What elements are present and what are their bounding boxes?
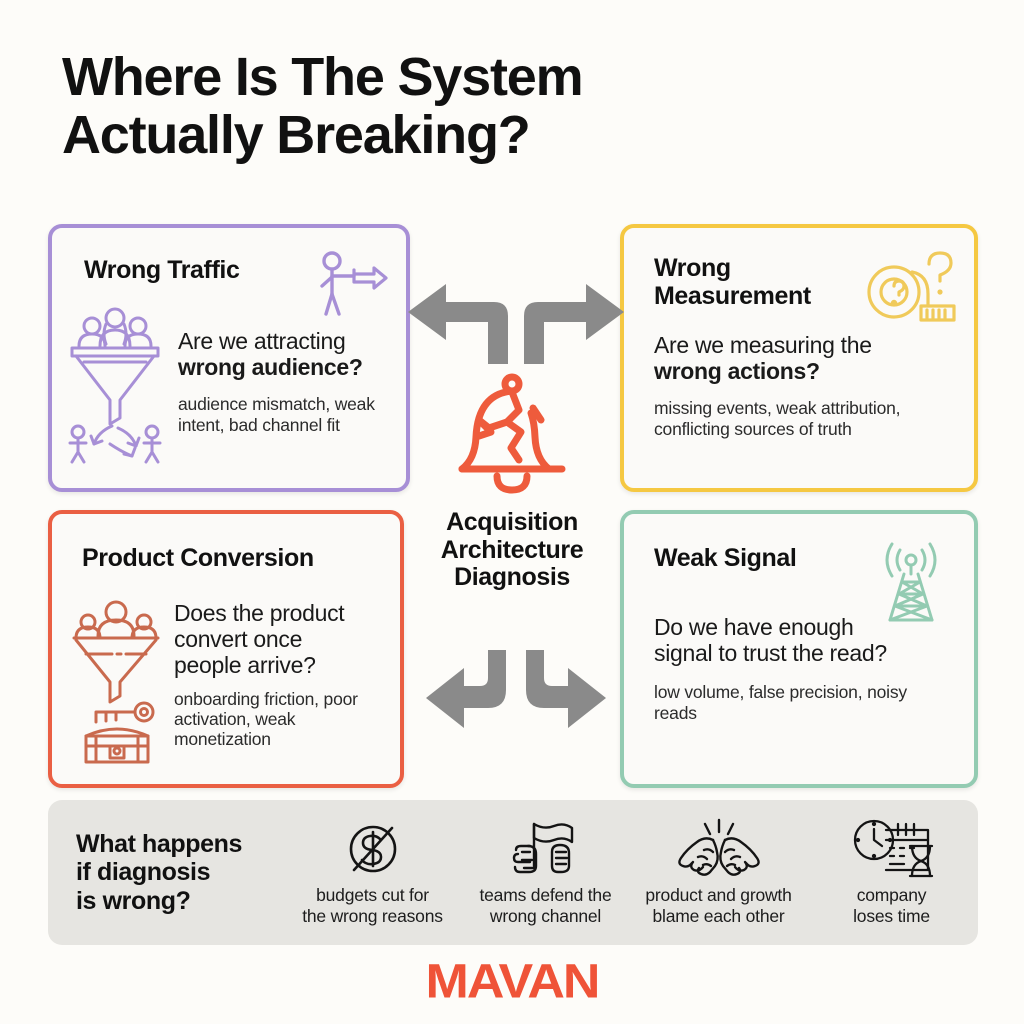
card-weak-signal-subtext: low volume, false precision, noisy reads <box>654 682 954 723</box>
card-wrong-measurement-title: Wrong Measurement <box>654 254 857 310</box>
card-weak-signal[interactable]: Weak Signal Do we have enough signal to … <box>620 510 978 788</box>
card-weak-signal-question: Do we have enough signal to trust the re… <box>654 614 954 666</box>
consequences-bar: What happens if diagnosis is wrong? budg… <box>48 800 978 945</box>
tape-measure-question-icon <box>866 248 958 331</box>
center-label-line-3: Diagnosis <box>410 564 614 592</box>
page-title-line-1: Where Is The System <box>62 48 822 106</box>
card-product-conversion-title: Product Conversion <box>82 544 314 572</box>
card-wrong-measurement-question: Are we measuring the wrong actions? <box>654 332 954 384</box>
consequence-label-line-2: wrong channel <box>463 906 628 927</box>
brand-logo: MAVAN <box>0 954 1024 1009</box>
consequences-question-line-1: What happens <box>76 830 286 859</box>
no-money-icon <box>290 818 455 880</box>
consequence-label-line-2: the wrong reasons <box>290 906 455 927</box>
funnel-key-chest-icon <box>68 598 166 771</box>
title-line-2: Measurement <box>654 282 811 310</box>
consequence-label: budgets cut for the wrong reasons <box>290 885 455 926</box>
card-wrong-traffic-question: Are we attracting wrong audience? <box>178 328 408 380</box>
card-product-conversion-subtext: onboarding friction, poor activation, we… <box>174 689 394 750</box>
consequences-question-line-2: if diagnosis <box>76 858 286 887</box>
flag-fist-icon <box>463 818 628 880</box>
question-line-2: signal to trust the read? <box>654 640 954 666</box>
question-line-3: people arrive? <box>174 652 394 678</box>
subtext-line-1: low volume, false precision, <box>654 682 862 702</box>
center-label: Acquisition Architecture Diagnosis <box>410 509 614 592</box>
consequence-item: company loses time <box>805 818 978 926</box>
consequence-item: teams defend the wrong channel <box>459 818 632 926</box>
card-weak-signal-title: Weak Signal <box>654 544 796 572</box>
question-emphasis: wrong audience? <box>178 354 408 380</box>
subtext-line-2: intent, bad channel fit <box>178 415 340 435</box>
consequence-label-line-2: loses time <box>809 906 974 927</box>
consequence-item: product and growth blame each other <box>632 818 805 926</box>
subtext-line-1: onboarding friction, <box>174 689 319 709</box>
page-title: Where Is The System Actually Breaking? <box>62 48 822 165</box>
consequence-label-line-2: blame each other <box>636 906 801 927</box>
consequence-label-line-1: product and growth <box>636 885 801 906</box>
consequence-label: product and growth blame each other <box>636 885 801 926</box>
center-label-line-1: Acquisition <box>410 509 614 537</box>
consequences-question-line-3: is wrong? <box>76 887 286 916</box>
arrows-bottom <box>400 650 632 742</box>
question-line-1: Does the product <box>174 600 394 626</box>
question-emphasis: wrong actions? <box>654 358 954 384</box>
card-wrong-traffic-subtext: audience mismatch, weak intent, bad chan… <box>178 394 408 435</box>
consequence-label-line-1: teams defend the <box>463 885 628 906</box>
card-product-conversion[interactable]: Product Conversion <box>48 510 404 788</box>
subtext-line-2: conflicting sources of truth <box>654 419 852 439</box>
center-hub: Acquisition Architecture Diagnosis <box>410 370 614 620</box>
question-line-2: convert once <box>174 626 394 652</box>
card-wrong-measurement[interactable]: Wrong Measurement Are we m <box>620 224 978 492</box>
arrows-top <box>400 272 632 364</box>
subtext-line-1: audience mismatch, weak <box>178 394 375 414</box>
center-label-line-2: Architecture <box>410 537 614 565</box>
pointing-hands-icon <box>636 818 801 880</box>
consequence-label-line-1: budgets cut for <box>290 885 455 906</box>
title-line-1: Wrong <box>654 254 731 282</box>
cracked-bell-icon <box>410 370 614 503</box>
consequences-question: What happens if diagnosis is wrong? <box>48 830 286 916</box>
consequence-label: teams defend the wrong channel <box>463 885 628 926</box>
clock-calendar-hourglass-icon <box>809 818 974 880</box>
consequence-label: company loses time <box>809 885 974 926</box>
consequence-item: budgets cut for the wrong reasons <box>286 818 459 926</box>
consequence-label-line-1: company <box>809 885 974 906</box>
funnel-audience-icon <box>62 304 170 469</box>
person-pointing-right-icon <box>312 250 388 323</box>
question-line-1: Do we have enough <box>654 614 954 640</box>
card-wrong-traffic[interactable]: Wrong Traffic <box>48 224 410 492</box>
question-lead: Are we attracting <box>178 328 408 354</box>
card-product-conversion-question: Does the product convert once people arr… <box>174 600 394 679</box>
subtext-line-1: missing events, weak attribution, <box>654 398 900 418</box>
page-title-line-2: Actually Breaking? <box>62 106 822 164</box>
card-wrong-traffic-title: Wrong Traffic <box>84 256 239 284</box>
card-wrong-measurement-subtext: missing events, weak attribution, confli… <box>654 398 954 439</box>
question-lead: Are we measuring the <box>654 332 954 358</box>
